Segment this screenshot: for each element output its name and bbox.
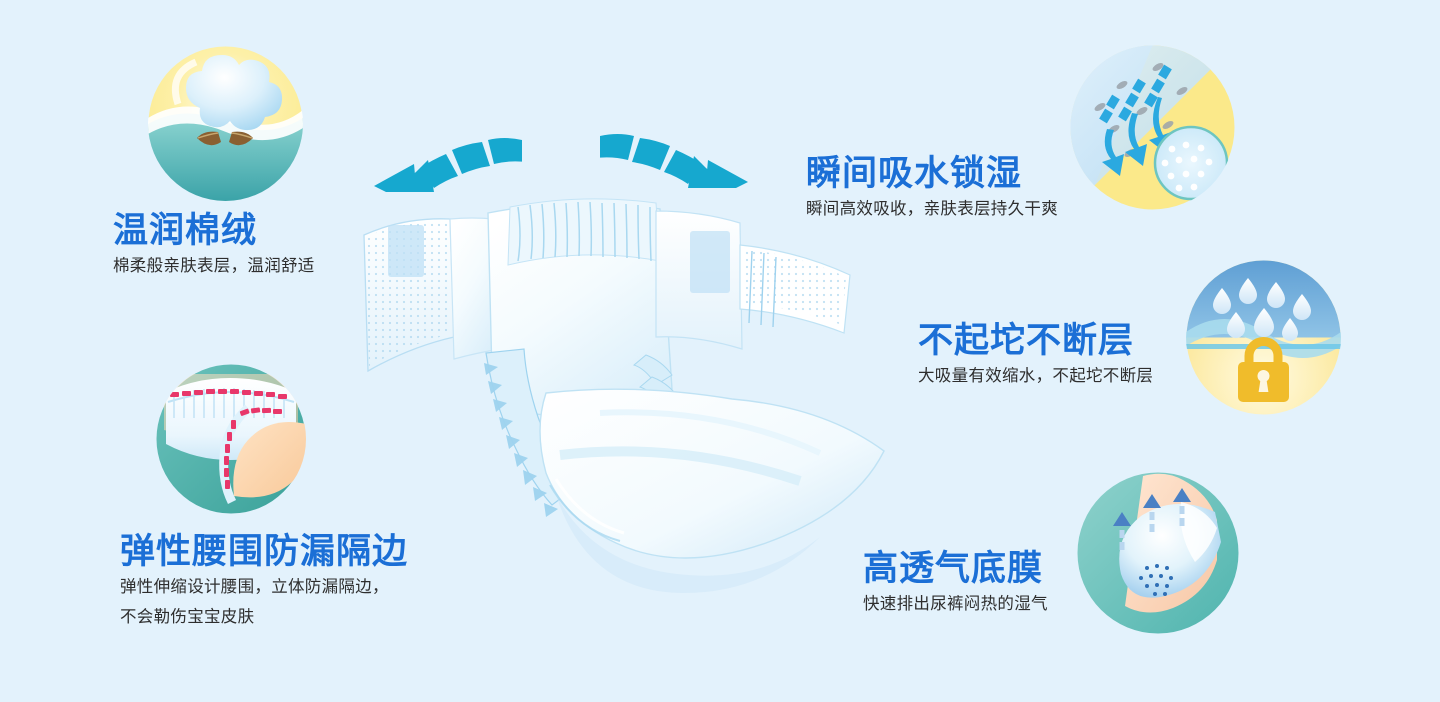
feature-cotton-subtitle-line-1: 棉柔般亲肤表层，温润舒适 (113, 251, 315, 282)
infographic-stage: 温润棉绒 棉柔般亲肤表层，温润舒适 弹性腰围防漏隔边 弹性伸缩设计腰围，立体防漏… (0, 0, 1440, 702)
breathable-film-icon (1077, 472, 1239, 634)
feature-waistband-title: 弹性腰围防漏隔边 (120, 533, 408, 572)
lock-moisture-icon (1186, 260, 1341, 415)
feature-no-lump-subtitle-line-1: 大吸量有效缩水，不起坨不断层 (918, 361, 1153, 392)
cotton-boll-icon (148, 46, 303, 201)
feature-breathable: 高透气底膜 快速排出尿裤闷热的湿气 (863, 550, 1048, 619)
feature-waistband-subtitle-line-2: 不会勒伤宝宝皮肤 (120, 602, 408, 633)
feature-cotton: 温润棉绒 棉柔般亲肤表层，温润舒适 (113, 212, 315, 281)
feature-breathable-title: 高透气底膜 (863, 550, 1048, 589)
feature-no-lump: 不起坨不断层 大吸量有效缩水，不起坨不断层 (918, 322, 1153, 391)
feature-waistband-subtitle-line-1: 弹性伸缩设计腰围，立体防漏隔边， (120, 572, 408, 603)
feature-no-lump-title: 不起坨不断层 (918, 322, 1153, 361)
stretch-arrow-right (600, 124, 750, 188)
stretch-arrow-left (372, 128, 522, 192)
feature-waistband: 弹性腰围防漏隔边 弹性伸缩设计腰围，立体防漏隔边， 不会勒伤宝宝皮肤 (120, 533, 408, 633)
feature-cotton-title: 温润棉绒 (113, 212, 315, 251)
feature-breathable-subtitle-line-1: 快速排出尿裤闷热的湿气 (863, 589, 1048, 620)
feature-absorption: 瞬间吸水锁湿 瞬间高效吸收，亲肤表层持久干爽 (806, 155, 1058, 224)
feature-absorption-title: 瞬间吸水锁湿 (806, 155, 1058, 194)
instant-absorption-icon (1070, 45, 1235, 210)
feature-absorption-subtitle-line-1: 瞬间高效吸收，亲肤表层持久干爽 (806, 194, 1058, 225)
baby-diaper-illustration (360, 195, 890, 635)
elastic-waistband-icon (156, 364, 306, 514)
